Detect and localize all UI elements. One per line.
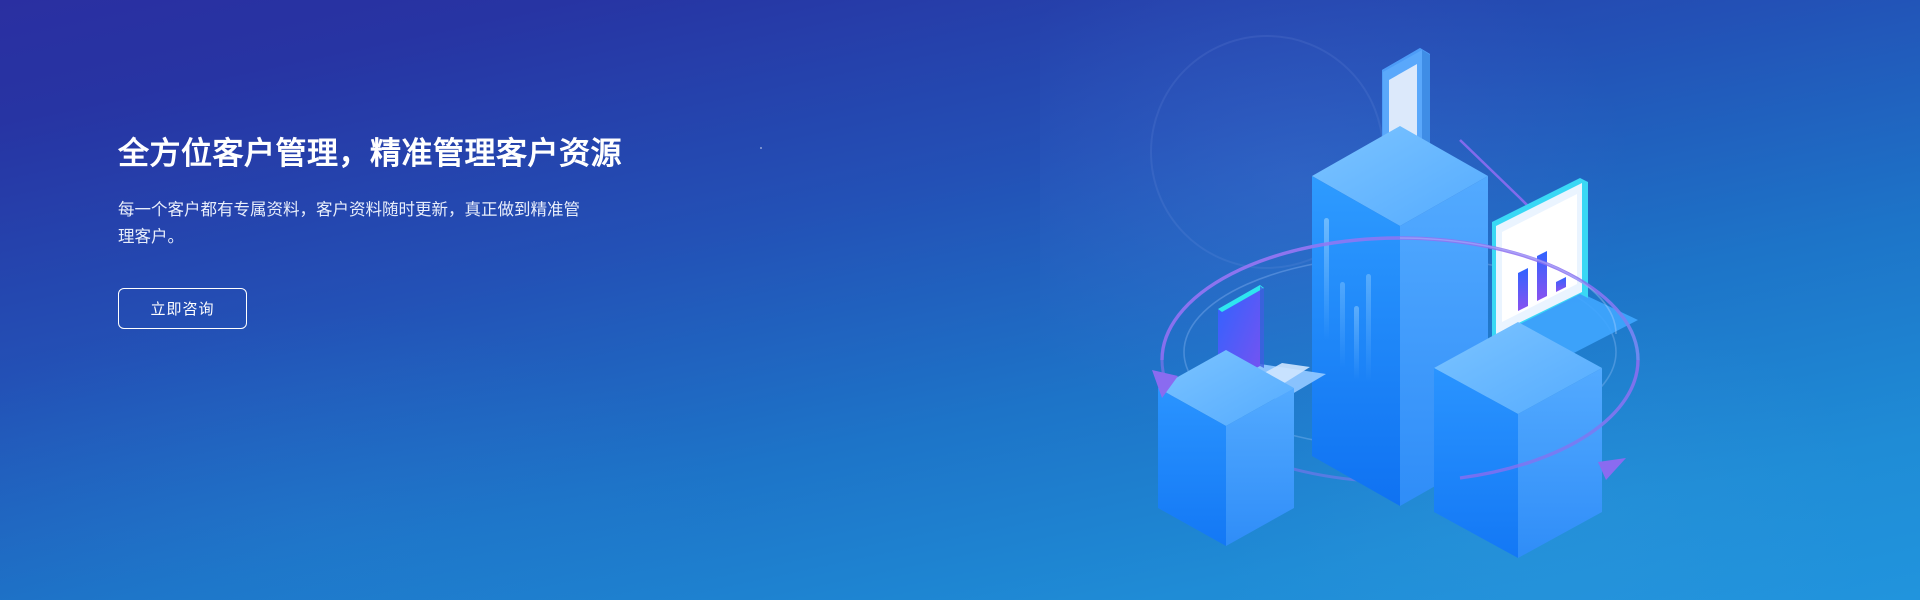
page-title: 全方位客户管理，精准管理客户资源 <box>118 133 878 175</box>
orbit-arrow-right <box>1598 458 1626 480</box>
consult-now-button[interactable]: 立即咨询 <box>118 288 247 329</box>
background-glow-bottom <box>0 300 760 600</box>
left-pillar <box>1158 285 1326 546</box>
isometric-data-platform-illustration <box>1130 30 1670 570</box>
hero-banner: 全方位客户管理，精准管理客户资源 每一个客户都有专属资料，客户资料随时更新，真正… <box>0 0 1920 600</box>
hero-subtitle: 每一个客户都有专属资料，客户资料随时更新，真正做到精准管理客户。 <box>118 197 596 250</box>
hero-copy-block: 全方位客户管理，精准管理客户资源 每一个客户都有专属资料，客户资料随时更新，真正… <box>118 133 878 329</box>
